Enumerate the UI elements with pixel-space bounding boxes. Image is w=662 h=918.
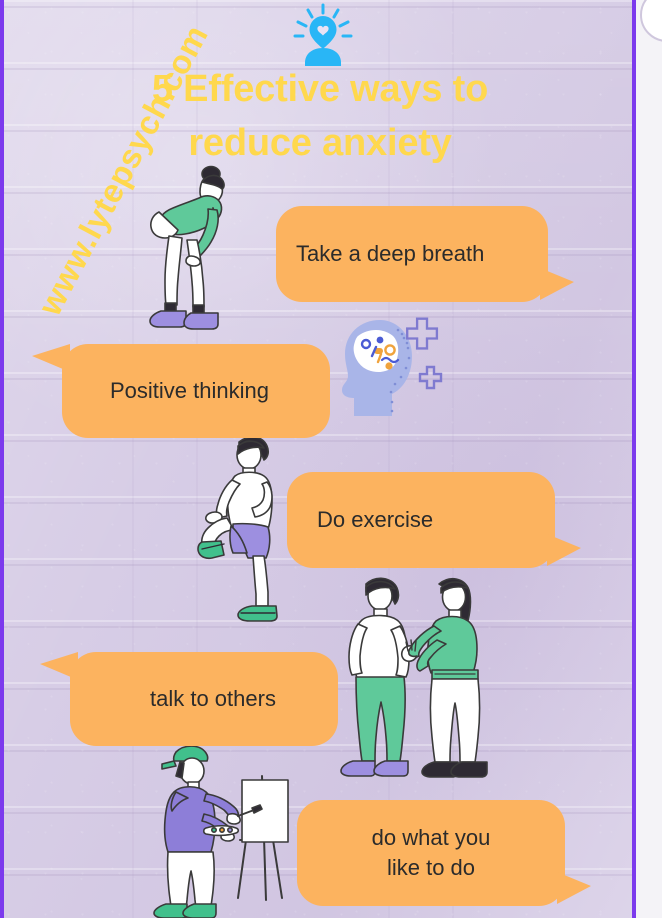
two-people-talking-illustration [336,570,496,790]
person-painting-at-easel-illustration [146,736,298,918]
tip-text: Take a deep breath [296,239,548,269]
tip-text: talk to others [150,684,338,714]
tip-bubble-take-a-deep-breath[interactable]: Take a deep breath [276,206,548,302]
page-title: 5 Effective ways to reduce anxiety [40,62,600,170]
tip-bubble-talk-to-others[interactable]: talk to others [70,652,338,746]
left-edge-rail[interactable] [0,0,4,918]
tip-text: Do exercise [317,505,555,535]
title-line-2: reduce anxiety [40,116,600,170]
right-side-panel [636,0,662,918]
infographic-poster: www.lytepsych.com 5 Effective w [4,0,632,918]
tip-text-line-1: do what you [372,825,491,850]
head-brain-profile-icon [336,312,450,422]
tip-text-line-2: like to do [387,855,475,880]
person-bending-over-catching-breath-illustration [139,160,265,342]
tip-bubble-do-what-you-like-to-do[interactable]: do what you like to do [297,800,565,906]
right-edge-rail[interactable] [632,0,636,918]
tip-bubble-positive-thinking[interactable]: Positive thinking [62,344,330,438]
tip-text: Positive thinking [110,376,330,406]
self-care-person-heart-icon [291,4,355,66]
title-line-1: 5 Effective ways to [40,62,600,116]
tip-bubble-do-exercise[interactable]: Do exercise [287,472,555,568]
screenshot-root: www.lytepsych.com 5 Effective w [0,0,662,918]
tip-text: do what you like to do [319,823,543,883]
